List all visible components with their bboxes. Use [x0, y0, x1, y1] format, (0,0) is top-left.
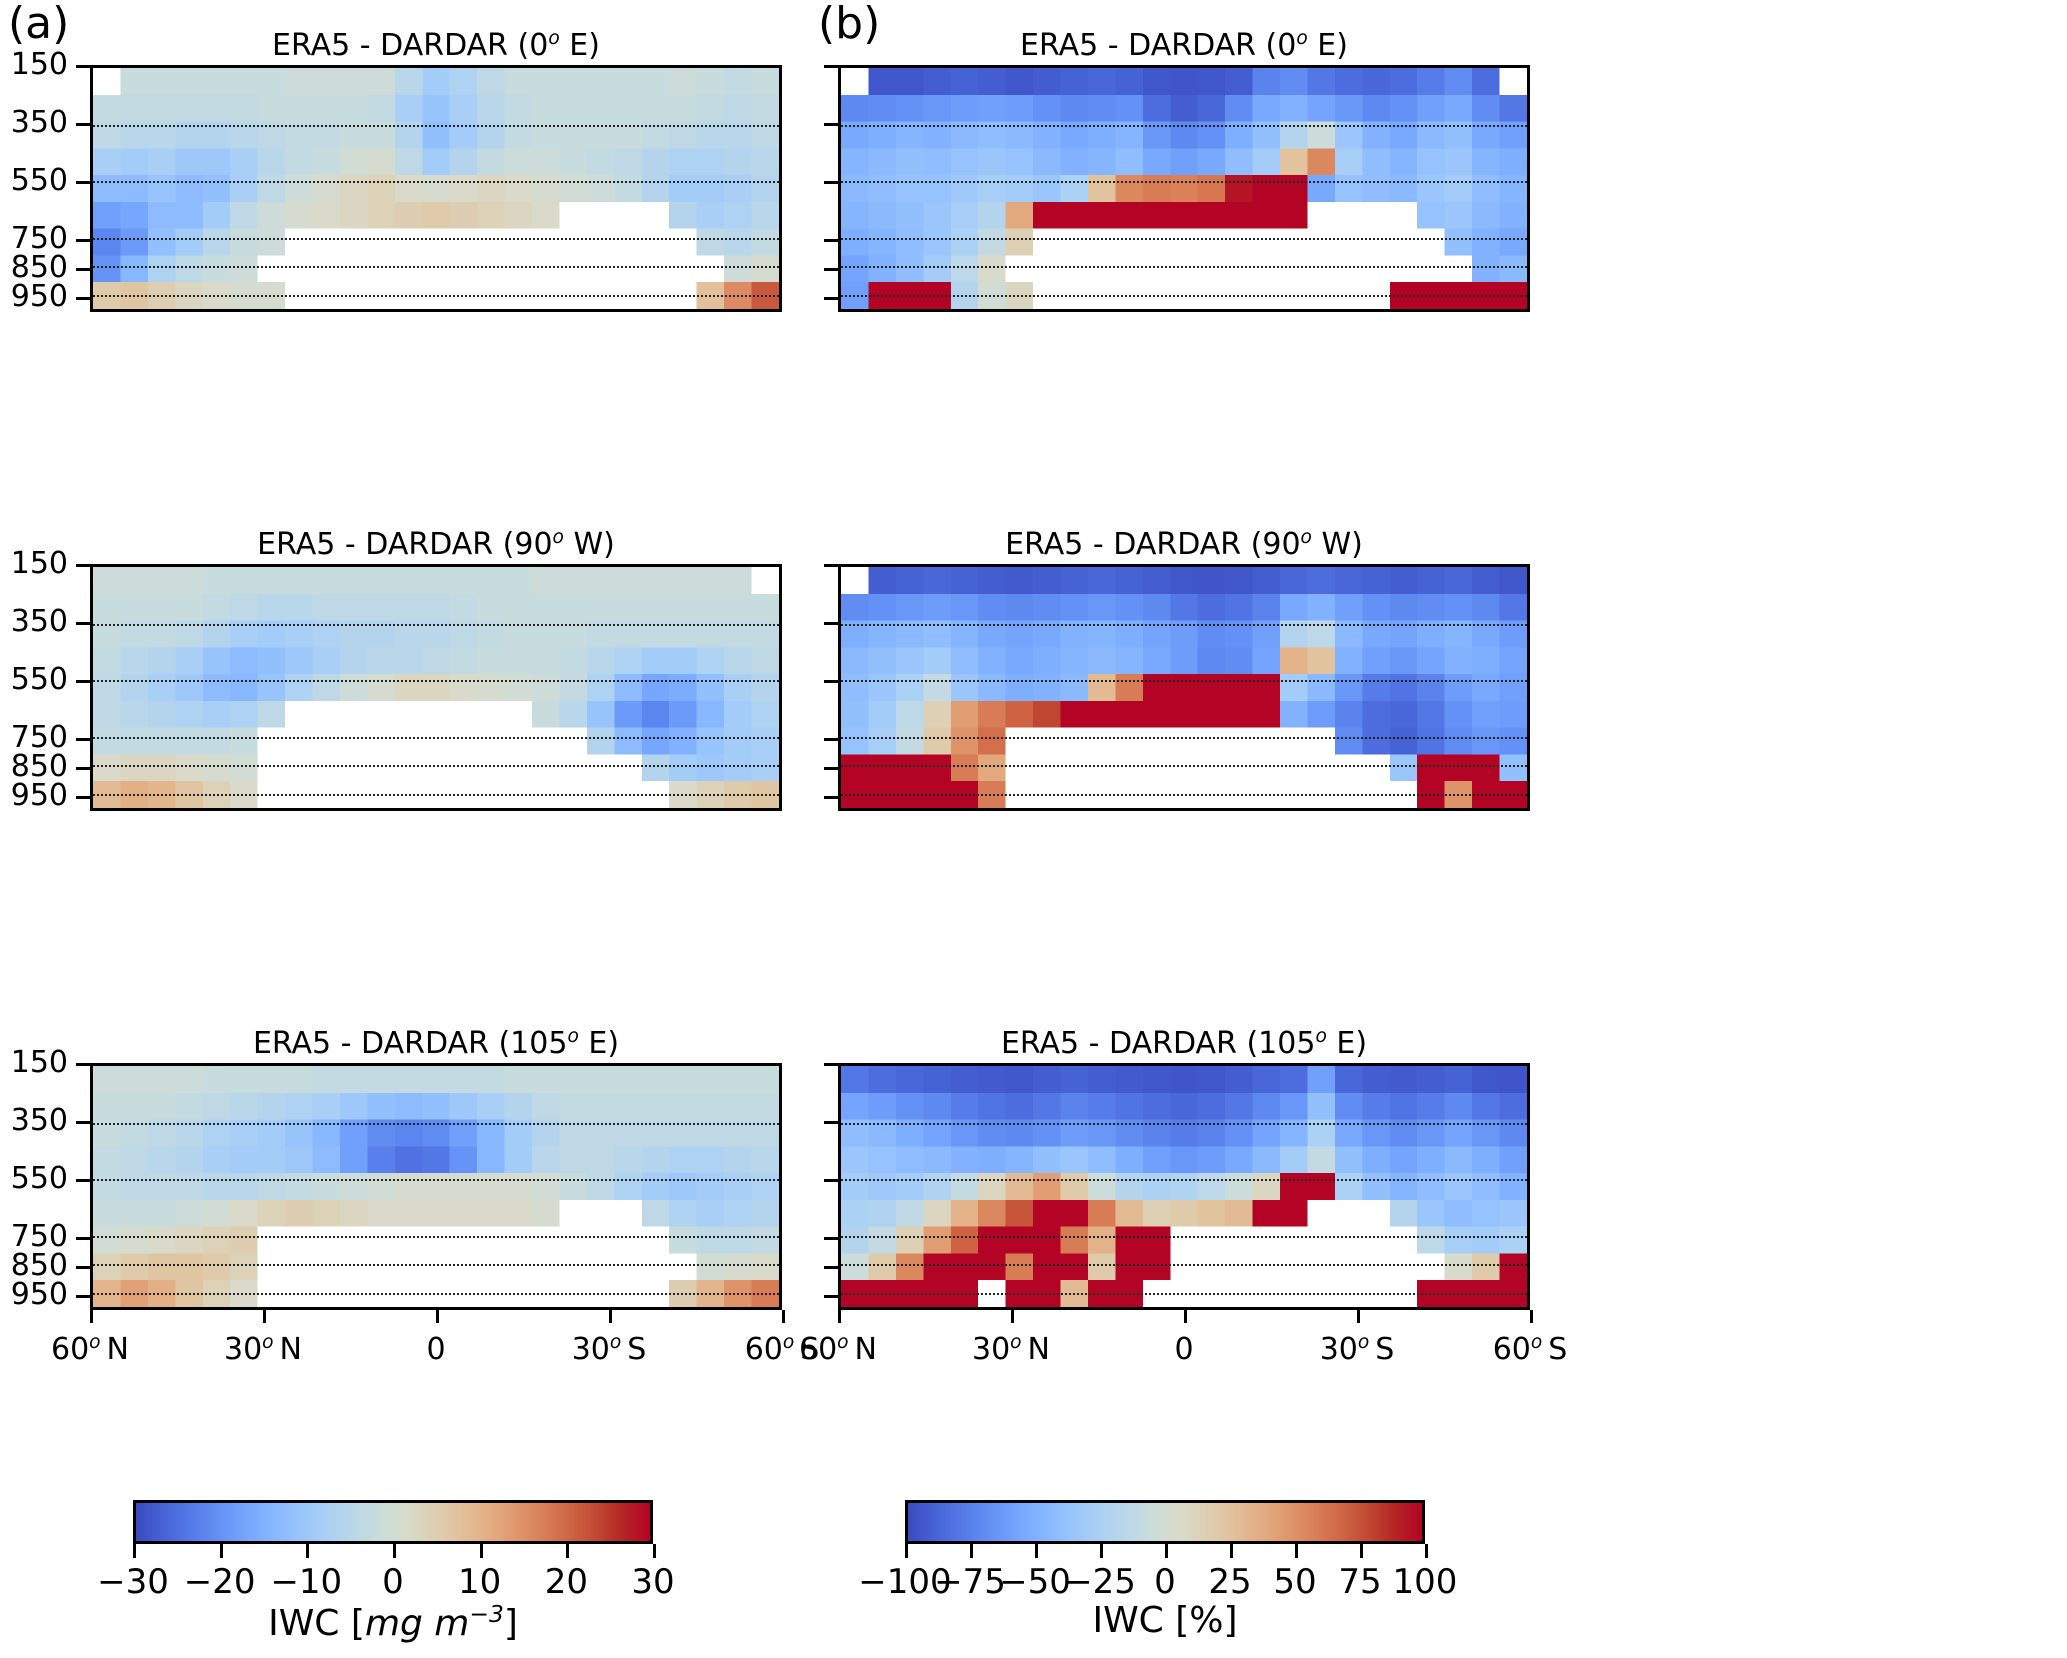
x-tick-mark	[1184, 1310, 1187, 1323]
x-tick-mark	[263, 1310, 266, 1323]
x-tick-label: 0	[346, 1332, 526, 1367]
gridline	[93, 1123, 779, 1125]
y-tick-mark	[824, 738, 838, 741]
gridline	[93, 266, 779, 268]
y-tick-mark	[76, 1063, 90, 1066]
gridline	[841, 181, 1527, 183]
colorbar-tick-mark	[1035, 1544, 1038, 1558]
colorbar-tick-label: 30	[583, 1562, 723, 1602]
y-tick-mark	[76, 622, 90, 625]
y-tick-mark	[824, 1063, 838, 1066]
axes-title-a-row0: ERA5 - DARDAR (0o E)	[90, 28, 782, 63]
gridline	[841, 1236, 1527, 1238]
gridline	[841, 295, 1527, 297]
y-tick-mark	[76, 1237, 90, 1240]
colorbar-tick-mark	[905, 1544, 908, 1558]
colorbar-tick-mark	[133, 1544, 136, 1558]
y-tick-mark	[824, 123, 838, 126]
panel-letter-a: (a)	[8, 2, 69, 46]
y-tick-mark	[824, 680, 838, 683]
colorbar-tick-mark	[1230, 1544, 1233, 1558]
y-tick-mark	[76, 1121, 90, 1124]
gridline	[841, 680, 1527, 682]
gridline	[841, 794, 1527, 796]
gridline	[841, 125, 1527, 127]
y-tick-mark	[824, 65, 838, 68]
gridline	[841, 266, 1527, 268]
y-tick-label: 950	[0, 279, 68, 314]
colorbar-tick-mark	[1425, 1544, 1428, 1558]
y-tick-label: 550	[0, 662, 68, 697]
x-tick-label: 30o N	[921, 1332, 1101, 1367]
y-tick-mark	[824, 181, 838, 184]
y-tick-label: 550	[0, 163, 68, 198]
y-tick-mark	[76, 1179, 90, 1182]
x-tick-mark	[90, 1310, 93, 1323]
x-tick-mark	[609, 1310, 612, 1323]
gridline	[841, 1293, 1527, 1295]
y-tick-mark	[76, 297, 90, 300]
gridline	[93, 737, 779, 739]
heatmap-a-row2	[90, 1063, 782, 1310]
y-tick-mark	[76, 564, 90, 567]
colorbar-tick-mark	[1360, 1544, 1363, 1558]
y-tick-mark	[824, 1121, 838, 1124]
x-tick-mark	[782, 1310, 785, 1323]
axes-title-b-row1: ERA5 - DARDAR (90o W)	[838, 527, 1530, 562]
colorbar-tick-mark	[1295, 1544, 1298, 1558]
x-tick-mark	[1357, 1310, 1360, 1323]
y-tick-mark	[824, 622, 838, 625]
y-tick-mark	[76, 239, 90, 242]
x-tick-label: 0	[1094, 1332, 1274, 1367]
y-tick-mark	[76, 680, 90, 683]
colorbar-left	[133, 1500, 653, 1544]
y-tick-mark	[76, 796, 90, 799]
figure-canvas: (a) (b) ERA5 - DARDAR (0o E) ERA5 - DARD…	[0, 0, 2067, 1658]
heatmap-b-row0	[838, 65, 1530, 312]
gridline	[93, 1236, 779, 1238]
x-tick-mark	[1530, 1310, 1533, 1323]
axes-title-a-row1: ERA5 - DARDAR (90o W)	[90, 527, 782, 562]
y-tick-mark	[824, 268, 838, 271]
x-tick-label: 30o S	[519, 1332, 699, 1367]
colorbar-tick-mark	[306, 1544, 309, 1558]
y-tick-mark	[824, 1179, 838, 1182]
x-tick-mark	[436, 1310, 439, 1323]
gridline	[841, 238, 1527, 240]
y-tick-mark	[76, 181, 90, 184]
colorbar-tick-mark	[1165, 1544, 1168, 1558]
x-tick-label: 30o N	[173, 1332, 353, 1367]
colorbar-left-label: IWC [mg m−3]	[133, 1600, 653, 1644]
y-tick-mark	[824, 297, 838, 300]
colorbar-tick-mark	[220, 1544, 223, 1558]
gridline	[841, 737, 1527, 739]
colorbar-tick-mark	[566, 1544, 569, 1558]
gridline	[93, 125, 779, 127]
x-tick-label: 60o S	[1440, 1332, 1620, 1367]
y-tick-label: 350	[0, 604, 68, 639]
colorbar-tick-label: 100	[1355, 1562, 1495, 1602]
colorbar-tick-mark	[653, 1544, 656, 1558]
gridline	[93, 765, 779, 767]
heatmap-a-row0	[90, 65, 782, 312]
axes-title-b-row0-text: ERA5 - DARDAR (0o E)	[838, 28, 1530, 63]
gridline	[93, 1179, 779, 1181]
x-tick-mark	[1011, 1310, 1014, 1323]
y-tick-mark	[824, 1237, 838, 1240]
y-tick-mark	[824, 1266, 838, 1269]
colorbar-right-label: IWC [%]	[905, 1600, 1425, 1641]
x-tick-label: 60o N	[748, 1332, 928, 1367]
heatmap-b-row2	[838, 1063, 1530, 1310]
y-tick-mark	[76, 268, 90, 271]
gridline	[93, 295, 779, 297]
y-tick-label: 150	[0, 47, 68, 82]
gridline	[841, 1123, 1527, 1125]
y-tick-label: 950	[0, 1277, 68, 1312]
gridline	[93, 624, 779, 626]
y-tick-mark	[76, 1266, 90, 1269]
x-tick-mark	[838, 1310, 841, 1323]
gridline	[93, 1293, 779, 1295]
gridline	[93, 680, 779, 682]
axes-title-a-row2: ERA5 - DARDAR (105o E)	[90, 1026, 782, 1061]
y-tick-mark	[824, 767, 838, 770]
y-tick-mark	[76, 1295, 90, 1298]
x-tick-label: 30o S	[1267, 1332, 1447, 1367]
y-tick-label: 150	[0, 546, 68, 581]
y-tick-label: 950	[0, 778, 68, 813]
y-tick-label: 550	[0, 1161, 68, 1196]
colorbar-right	[905, 1500, 1425, 1544]
y-tick-mark	[824, 564, 838, 567]
y-tick-mark	[824, 239, 838, 242]
colorbar-tick-mark	[480, 1544, 483, 1558]
colorbar-tick-mark	[970, 1544, 973, 1558]
y-tick-label: 350	[0, 105, 68, 140]
colorbar-tick-mark	[1100, 1544, 1103, 1558]
y-tick-mark	[76, 738, 90, 741]
gridline	[93, 181, 779, 183]
gridline	[93, 794, 779, 796]
gridline	[841, 1264, 1527, 1266]
y-tick-label: 350	[0, 1103, 68, 1138]
x-tick-label: 60o N	[0, 1332, 180, 1367]
gridline	[93, 238, 779, 240]
axes-title-b-row2: ERA5 - DARDAR (105o E)	[838, 1026, 1530, 1061]
heatmap-b-row1	[838, 564, 1530, 811]
gridline	[93, 1264, 779, 1266]
y-tick-mark	[76, 767, 90, 770]
gridline	[841, 765, 1527, 767]
y-tick-mark	[76, 123, 90, 126]
y-tick-mark	[824, 796, 838, 799]
gridline	[841, 1179, 1527, 1181]
colorbar-tick-mark	[393, 1544, 396, 1558]
heatmap-a-row1	[90, 564, 782, 811]
y-tick-label: 150	[0, 1045, 68, 1080]
gridline	[841, 624, 1527, 626]
y-tick-mark	[824, 1295, 838, 1298]
y-tick-mark	[76, 65, 90, 68]
